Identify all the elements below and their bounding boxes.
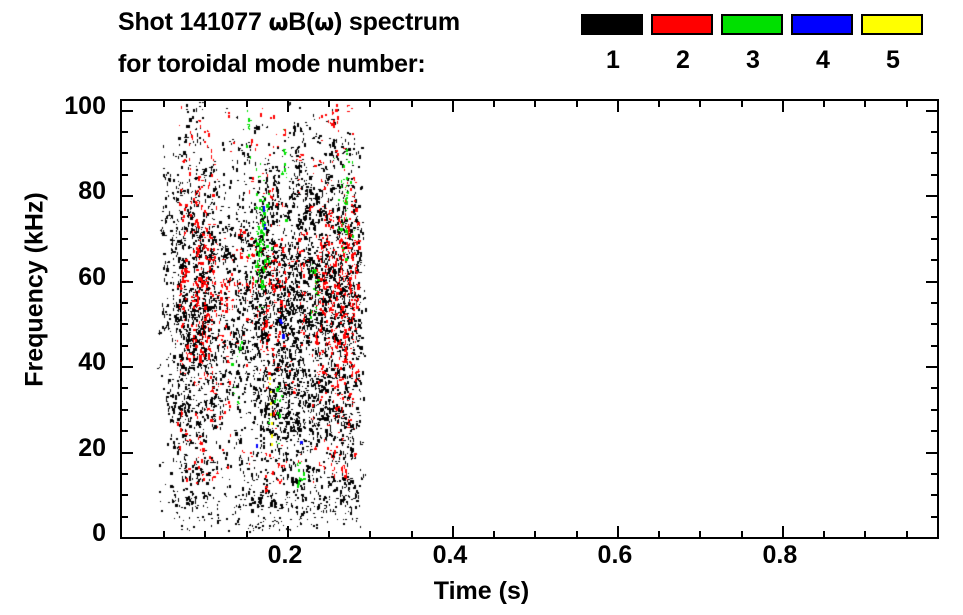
x-minor-tick	[246, 531, 248, 537]
y-right-minor-tick	[931, 409, 937, 411]
x-major-tick	[287, 526, 289, 537]
x-axis-title: Time (s)	[0, 577, 963, 606]
y-right-minor-tick	[931, 131, 937, 133]
x-minor-tick	[163, 531, 165, 537]
x-minor-tick	[576, 531, 578, 537]
x-top-minor-tick	[411, 101, 413, 107]
x-top-minor-tick	[163, 101, 165, 107]
x-top-minor-tick	[906, 101, 908, 107]
plot-area	[120, 99, 939, 539]
title-spectrum-text: ) spectrum	[334, 8, 460, 36]
y-right-minor-tick	[931, 473, 937, 475]
y-major-tick	[122, 281, 133, 283]
x-top-minor-tick	[658, 101, 660, 107]
x-minor-tick	[823, 531, 825, 537]
y-right-major-tick	[926, 366, 937, 368]
x-minor-tick	[906, 531, 908, 537]
y-right-major-tick	[926, 281, 937, 283]
y-minor-tick	[122, 323, 128, 325]
x-tick-label-0.6: 0.6	[570, 541, 660, 570]
y-tick-label-0: 0	[40, 519, 106, 548]
y-right-major-tick	[926, 537, 937, 539]
omega-symbol-2: ω	[314, 10, 334, 36]
omega-symbol-1: ω	[268, 10, 288, 36]
y-right-minor-tick	[931, 259, 937, 261]
x-minor-tick	[493, 531, 495, 537]
y-tick-label-60: 60	[40, 263, 106, 292]
y-right-minor-tick	[931, 345, 937, 347]
x-top-minor-tick	[493, 101, 495, 107]
x-top-minor-tick	[328, 101, 330, 107]
legend-swatch-toroidal-mode-1	[581, 14, 643, 35]
y-minor-tick	[122, 409, 128, 411]
x-tick-label-0.4: 0.4	[405, 541, 495, 570]
y-right-minor-tick	[931, 238, 937, 240]
x-minor-tick	[658, 531, 660, 537]
legend-item-5[interactable]: 5	[861, 14, 925, 73]
y-minor-tick	[122, 238, 128, 240]
y-right-minor-tick	[931, 174, 937, 176]
spectrogram-figure: Shot 141077 ωB(ω) spectrum for toroidal …	[0, 0, 963, 615]
y-right-major-tick	[926, 195, 937, 197]
x-major-tick	[782, 526, 784, 537]
legend-label-5: 5	[861, 48, 925, 73]
legend-label-1: 1	[581, 48, 645, 73]
y-tick-label-40: 40	[40, 348, 106, 377]
y-minor-tick	[122, 430, 128, 432]
y-major-tick	[122, 366, 133, 368]
x-top-minor-tick	[204, 101, 206, 107]
legend-item-3[interactable]: 3	[721, 14, 785, 73]
x-top-minor-tick	[369, 101, 371, 107]
spectrogram-data-canvas	[122, 101, 937, 537]
legend-swatch-toroidal-mode-5	[861, 14, 923, 35]
legend-swatch-toroidal-mode-2	[651, 14, 713, 35]
y-right-major-tick	[926, 110, 937, 112]
x-minor-tick	[699, 531, 701, 537]
legend-label-2: 2	[651, 48, 715, 73]
y-minor-tick	[122, 345, 128, 347]
y-right-minor-tick	[931, 430, 937, 432]
x-minor-tick	[534, 531, 536, 537]
legend-item-1[interactable]: 1	[581, 14, 645, 73]
y-minor-tick	[122, 494, 128, 496]
y-minor-tick	[122, 174, 128, 176]
x-top-major-tick	[452, 101, 454, 112]
y-minor-tick	[122, 473, 128, 475]
legend-item-4[interactable]: 4	[791, 14, 855, 73]
y-minor-tick	[122, 302, 128, 304]
legend-swatch-toroidal-mode-4	[791, 14, 853, 35]
x-minor-tick	[369, 531, 371, 537]
y-major-tick	[122, 110, 133, 112]
x-top-minor-tick	[823, 101, 825, 107]
y-right-minor-tick	[931, 216, 937, 218]
x-tick-label-0.2: 0.2	[240, 541, 330, 570]
y-right-minor-tick	[931, 302, 937, 304]
x-minor-tick	[864, 531, 866, 537]
legend-label-3: 3	[721, 48, 785, 73]
x-major-tick	[452, 526, 454, 537]
x-top-major-tick	[617, 101, 619, 112]
y-minor-tick	[122, 516, 128, 518]
x-top-minor-tick	[246, 101, 248, 107]
y-right-minor-tick	[931, 152, 937, 154]
y-right-minor-tick	[931, 516, 937, 518]
x-top-minor-tick	[741, 101, 743, 107]
legend-label-4: 4	[791, 48, 855, 73]
x-top-minor-tick	[699, 101, 701, 107]
x-minor-tick	[411, 531, 413, 537]
legend: 12345	[581, 14, 929, 88]
y-minor-tick	[122, 387, 128, 389]
legend-item-2[interactable]: 2	[651, 14, 715, 73]
x-tick-label-0.8: 0.8	[735, 541, 825, 570]
y-minor-tick	[122, 259, 128, 261]
x-minor-tick	[204, 531, 206, 537]
y-major-tick	[122, 537, 133, 539]
title-shot-text: Shot 141077	[118, 8, 268, 36]
legend-swatch-toroidal-mode-3	[721, 14, 783, 35]
y-minor-tick	[122, 152, 128, 154]
y-right-minor-tick	[931, 387, 937, 389]
y-right-minor-tick	[931, 494, 937, 496]
figure-title-line-2: for toroidal mode number:	[118, 50, 426, 79]
y-tick-label-20: 20	[40, 434, 106, 463]
y-tick-label-80: 80	[40, 177, 106, 206]
x-top-minor-tick	[576, 101, 578, 107]
x-top-minor-tick	[864, 101, 866, 107]
y-tick-label-100: 100	[40, 92, 106, 121]
figure-title-line-1: Shot 141077 ωB(ω) spectrum	[118, 8, 460, 37]
y-right-major-tick	[926, 452, 937, 454]
x-top-major-tick	[287, 101, 289, 112]
y-right-minor-tick	[931, 323, 937, 325]
x-minor-tick	[328, 531, 330, 537]
x-minor-tick	[741, 531, 743, 537]
x-top-minor-tick	[534, 101, 536, 107]
x-top-major-tick	[782, 101, 784, 112]
x-major-tick	[617, 526, 619, 537]
y-minor-tick	[122, 216, 128, 218]
title-b-text: B(	[288, 8, 314, 36]
y-minor-tick	[122, 131, 128, 133]
y-major-tick	[122, 452, 133, 454]
y-major-tick	[122, 195, 133, 197]
